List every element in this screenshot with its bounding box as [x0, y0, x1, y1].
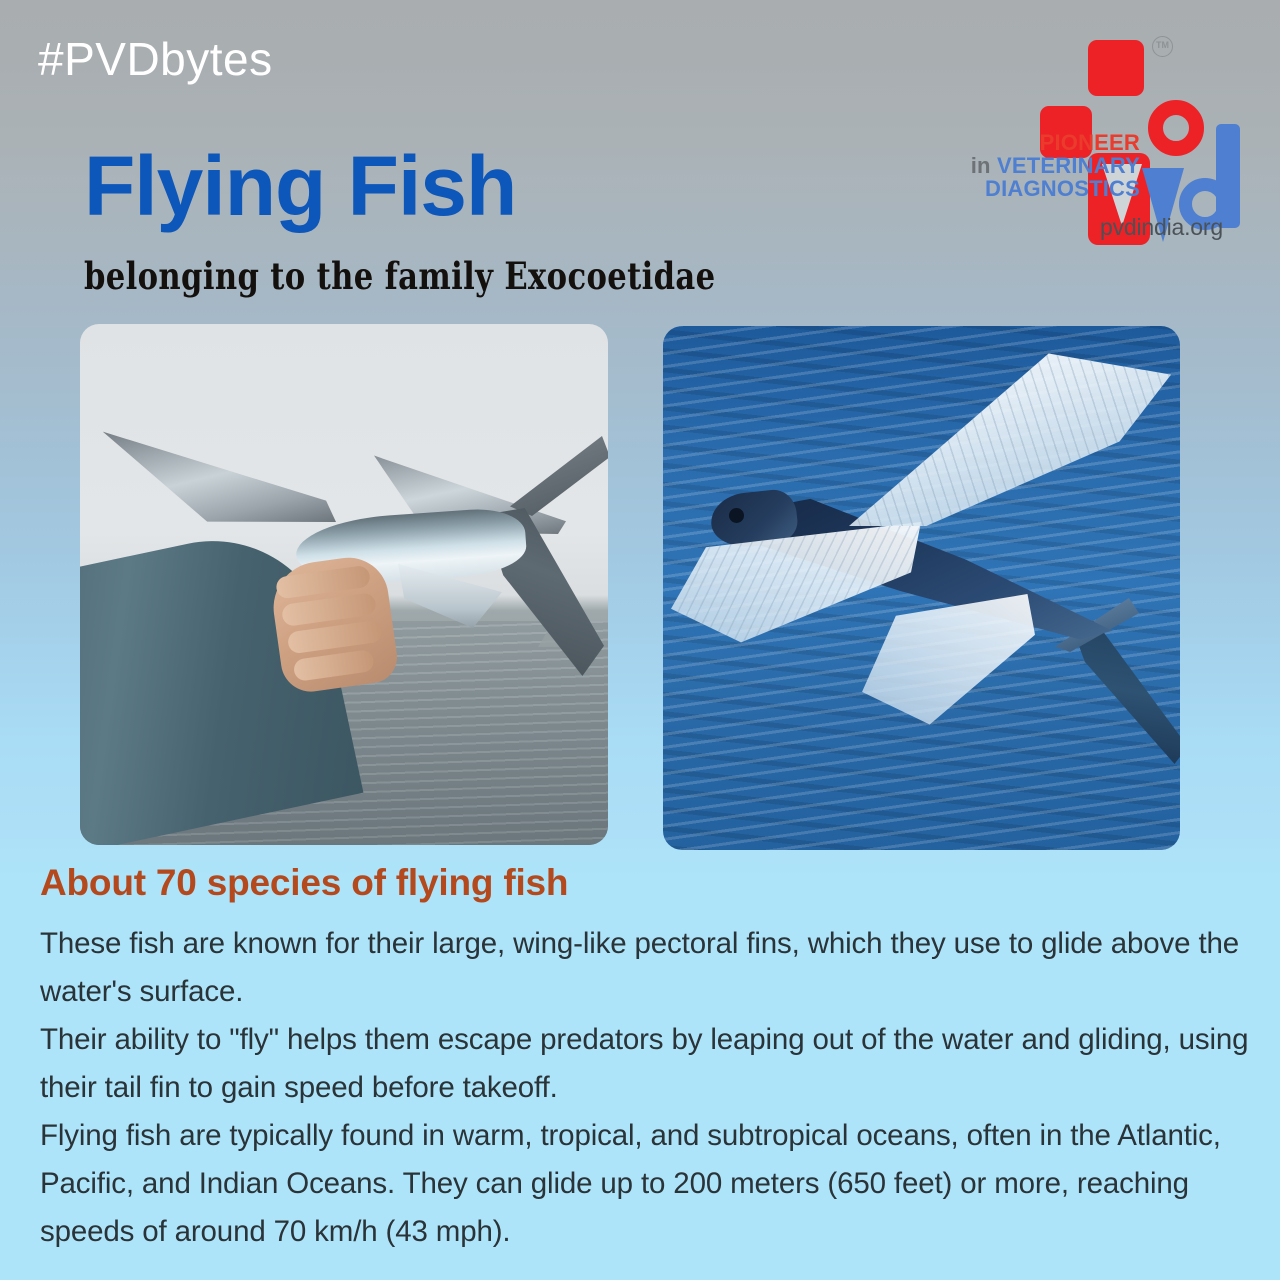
page-title: Flying Fish	[84, 144, 516, 228]
photo-flying-fish-in-hand	[80, 324, 608, 845]
pectoral-fin-near	[671, 522, 921, 662]
logo-p-bowl-icon	[1148, 100, 1204, 156]
logo-d-stem-icon	[1216, 124, 1240, 228]
logo-tagline: PIONEER in VETERINARY DIAGNOSTICS	[960, 132, 1140, 201]
tail-fin-upper-lobe	[510, 436, 608, 516]
hand	[268, 553, 401, 696]
about-paragraph-3: Flying fish are typically found in warm,…	[40, 1112, 1250, 1256]
pectoral-fin-left	[102, 402, 336, 530]
about-heading: About 70 species of flying fish	[40, 864, 568, 901]
tagline-veterinary-line: in VETERINARY	[960, 155, 1140, 178]
about-paragraph-1: These fish are known for their large, wi…	[40, 920, 1250, 1016]
pelvic-fin	[847, 594, 1035, 730]
infographic-poster: #PVDbytes Flying Fish belonging to the f…	[0, 0, 1280, 1280]
about-body: These fish are known for their large, wi…	[40, 920, 1250, 1256]
finger-3	[287, 620, 383, 655]
tagline-diagnostics: DIAGNOSTICS	[960, 178, 1140, 201]
page-subtitle: belonging to the family Exocoetidae	[84, 258, 715, 295]
logo-square-top-icon	[1088, 40, 1144, 96]
tagline-in: in	[971, 153, 997, 178]
tagline-pioneer: PIONEER	[960, 132, 1140, 155]
photo-flying-fish-gliding	[663, 326, 1180, 850]
fish-eye	[729, 508, 744, 523]
pvd-logo: TM PIONEER in VETERINARY DIAGNOSTICS pvd…	[960, 28, 1260, 243]
finger-4	[293, 649, 375, 682]
trademark-icon: TM	[1152, 36, 1173, 57]
tagline-veterinary: VETERINARY	[997, 153, 1140, 178]
pectoral-fin-far	[849, 350, 1171, 526]
about-paragraph-2: Their ability to "fly" helps them escape…	[40, 1016, 1250, 1112]
hashtag-label: #PVDbytes	[38, 36, 273, 82]
website-url[interactable]: pvdindia.org	[1100, 214, 1223, 241]
